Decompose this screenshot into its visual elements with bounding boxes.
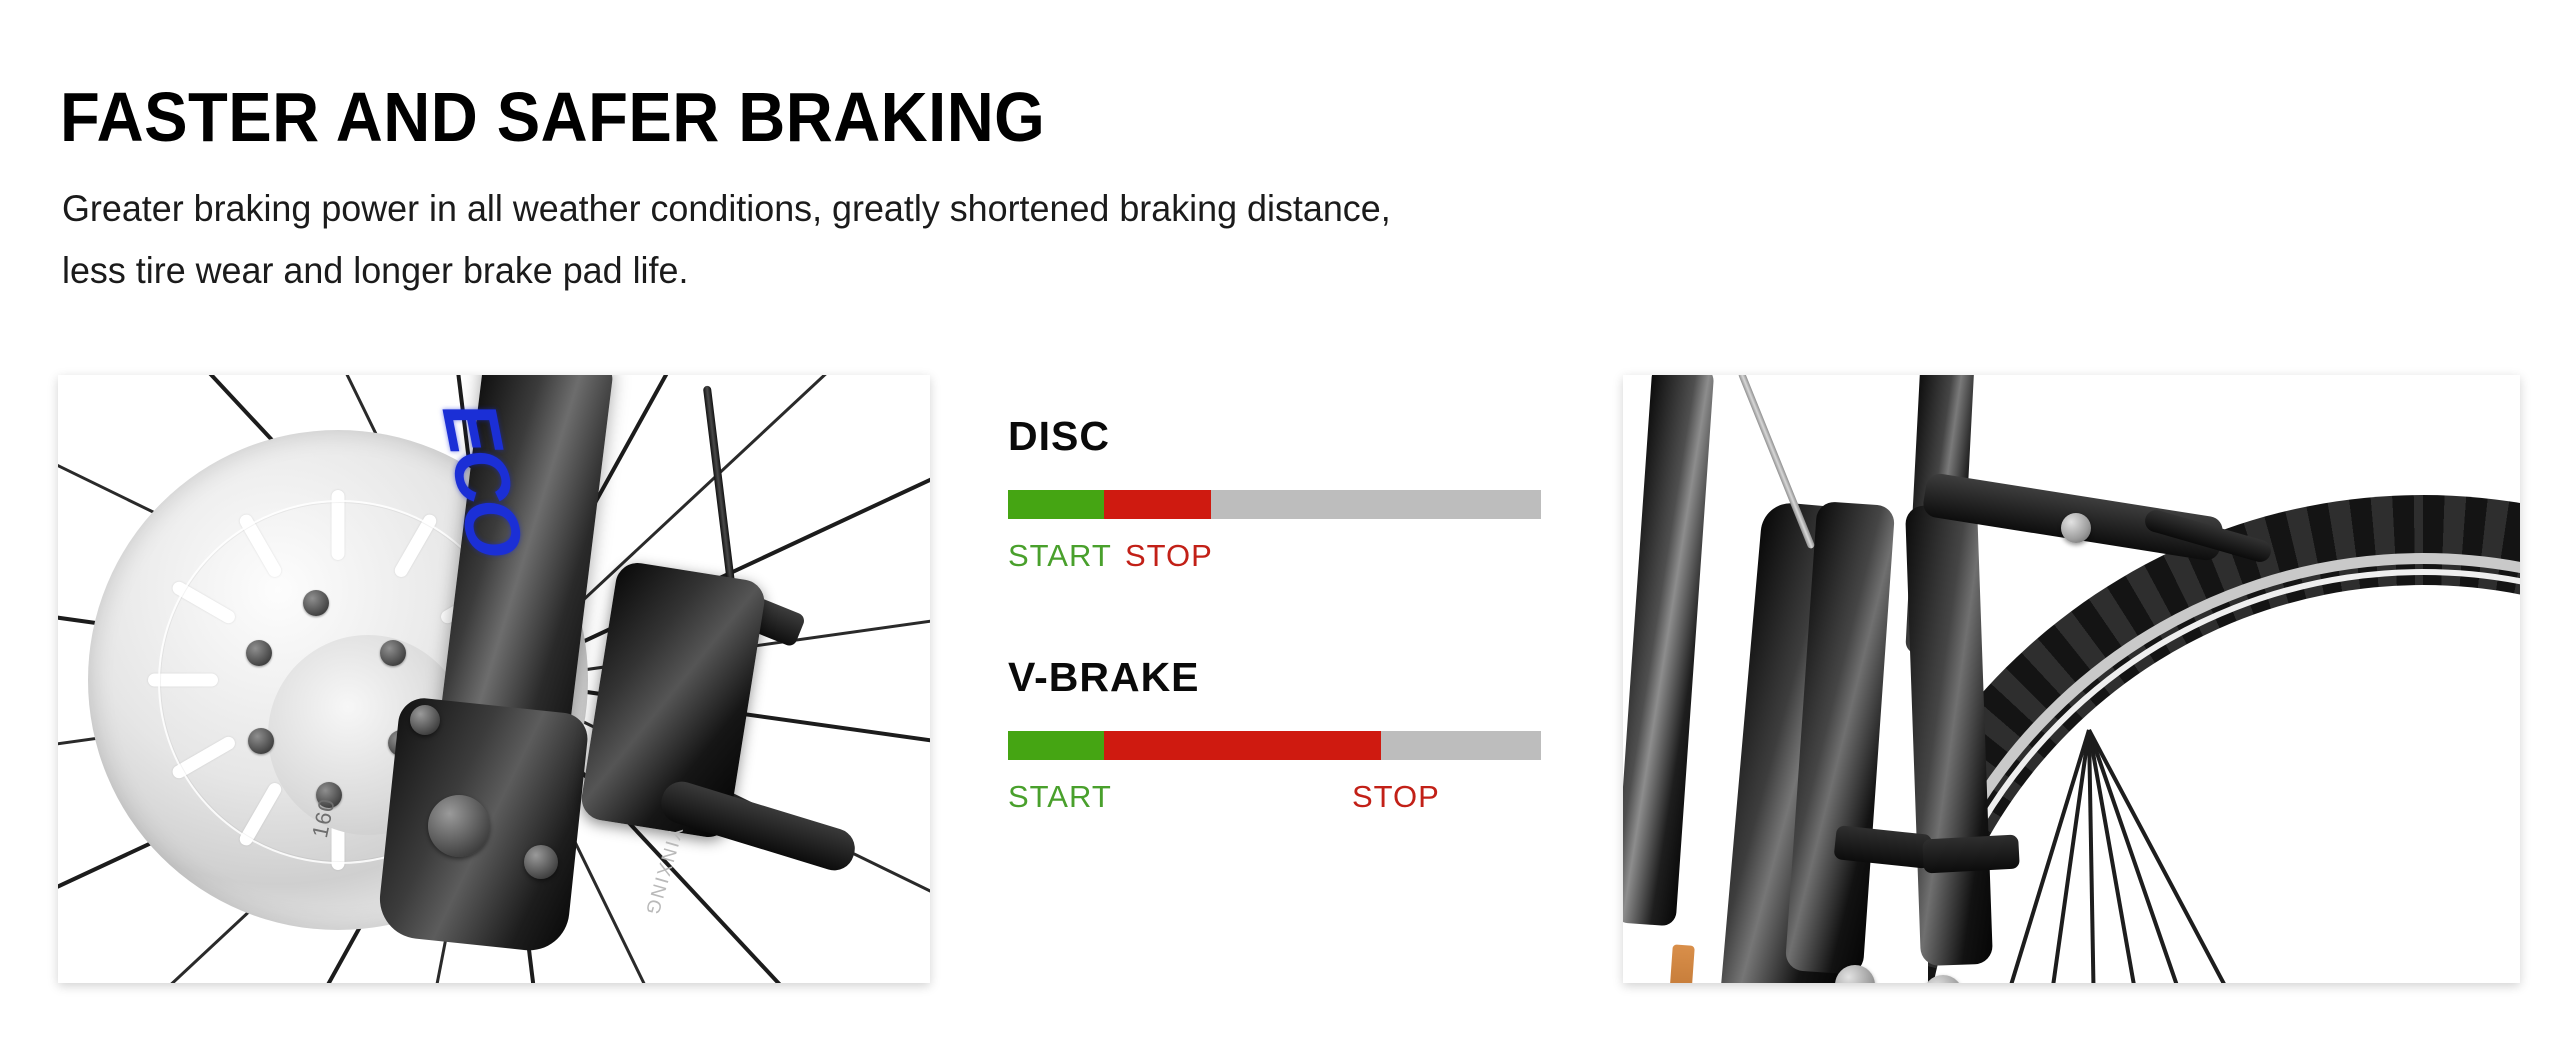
bar-track-vbrake (1008, 731, 1541, 760)
bar-segment-start-vbrake (1008, 731, 1104, 760)
bar-segment-start-disc (1008, 490, 1104, 519)
bar-label-start-vbrake: START (1008, 779, 1112, 815)
photo-v-brake (1623, 375, 2520, 983)
subcopy-line-1: Greater braking power in all weather con… (62, 178, 2196, 240)
caliper-actuation-arm (656, 777, 860, 876)
page-subcopy: Greater braking power in all weather con… (62, 178, 2196, 302)
bar-track-disc (1008, 490, 1541, 519)
braking-comparison: DISC START STOP V-BRAKE START STOP (1008, 412, 1568, 819)
page-headline: FASTER AND SAFER BRAKING (60, 77, 1045, 157)
infographic-canvas: FASTER AND SAFER BRAKING Greater braking… (0, 0, 2560, 1049)
photo-disc-brake: 160 ECO YINXING (58, 375, 930, 983)
bar-labels-disc: START STOP (1008, 538, 1568, 578)
bar-labels-vbrake: START STOP (1008, 779, 1568, 819)
bar-title-vbrake: V-BRAKE (1008, 653, 1568, 701)
brake-pad-right (1922, 835, 2020, 874)
bar-label-stop-disc: STOP (1125, 538, 1213, 574)
bar-group-vbrake: V-BRAKE START STOP (1008, 653, 1568, 819)
bar-label-start-disc: START (1008, 538, 1112, 574)
cable-anchor-screw (2061, 513, 2091, 543)
subcopy-line-2: less tire wear and longer brake pad life… (62, 240, 2196, 302)
bar-title-disc: DISC (1008, 412, 1568, 460)
v-brake-scene (1623, 375, 2520, 983)
bar-label-stop-vbrake: STOP (1352, 779, 1440, 815)
bar-segment-stop-vbrake (1104, 731, 1381, 760)
bar-group-disc: DISC START STOP (1008, 412, 1568, 578)
disc-brake-scene: 160 ECO YINXING (58, 375, 930, 983)
v-brake-arm-right (1905, 504, 1993, 966)
bar-segment-stop-disc (1104, 490, 1211, 519)
